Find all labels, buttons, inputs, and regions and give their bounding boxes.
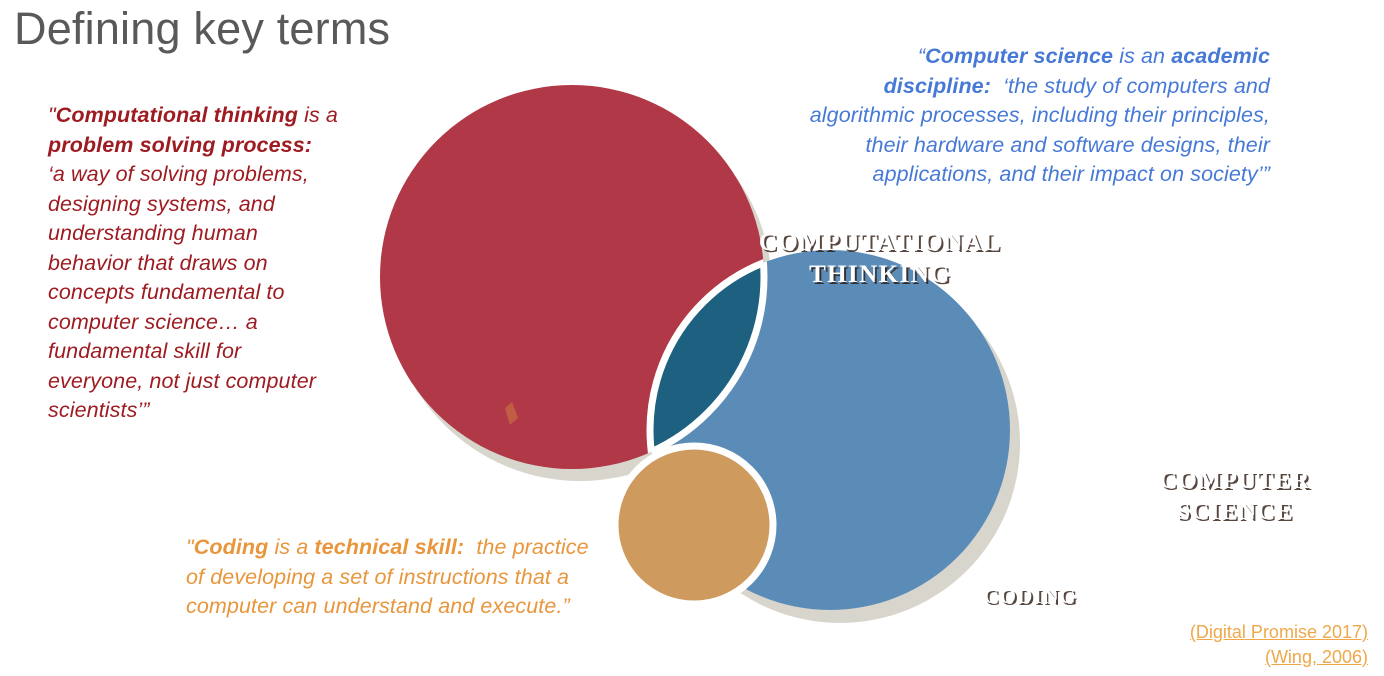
quote-ct-category: problem solving process: xyxy=(48,133,312,157)
quote-ct-spacer xyxy=(312,133,318,157)
quote-ct-connector: is a xyxy=(298,103,338,127)
quote-coding-open-quote: " xyxy=(186,535,194,559)
quote-ct-open-quote: " xyxy=(48,103,56,127)
citations-block: (Digital Promise 2017) (Wing, 2006) xyxy=(1190,620,1368,670)
quote-coding-term: Coding xyxy=(194,535,269,559)
quote-computational-thinking: "Computational thinking is a problem sol… xyxy=(48,101,340,426)
quote-coding: "Coding is a technical skill: the practi… xyxy=(186,533,606,622)
quote-cs-spacer xyxy=(991,74,1003,98)
quote-computer-science: “Computer science is an academic discipl… xyxy=(800,42,1270,190)
slide-canvas: Defining key terms xyxy=(0,0,1384,676)
quote-cs-connector: is an xyxy=(1113,44,1171,68)
quote-coding-category: technical skill: xyxy=(314,535,464,559)
citation-link-wing[interactable]: (Wing, 2006) xyxy=(1190,645,1368,670)
quote-coding-connector: is a xyxy=(268,535,314,559)
venn-label-cs-line1: COMPUTER xyxy=(1130,466,1340,497)
page-title: Defining key terms xyxy=(14,2,390,56)
quote-ct-definition: ‘a way of solving problems, designing sy… xyxy=(48,162,316,422)
citation-link-digital-promise[interactable]: (Digital Promise 2017) xyxy=(1190,620,1368,645)
quote-cs-definition: ‘the study of computers and algorithmic … xyxy=(810,74,1270,187)
quote-coding-spacer xyxy=(464,535,476,559)
quote-cs-term: Computer science xyxy=(925,44,1113,68)
quote-ct-term: Computational thinking xyxy=(56,103,298,127)
venn-label-cs-line2: SCIENCE xyxy=(1130,497,1340,528)
venn-label-computer-science: COMPUTER SCIENCE xyxy=(1130,466,1340,528)
